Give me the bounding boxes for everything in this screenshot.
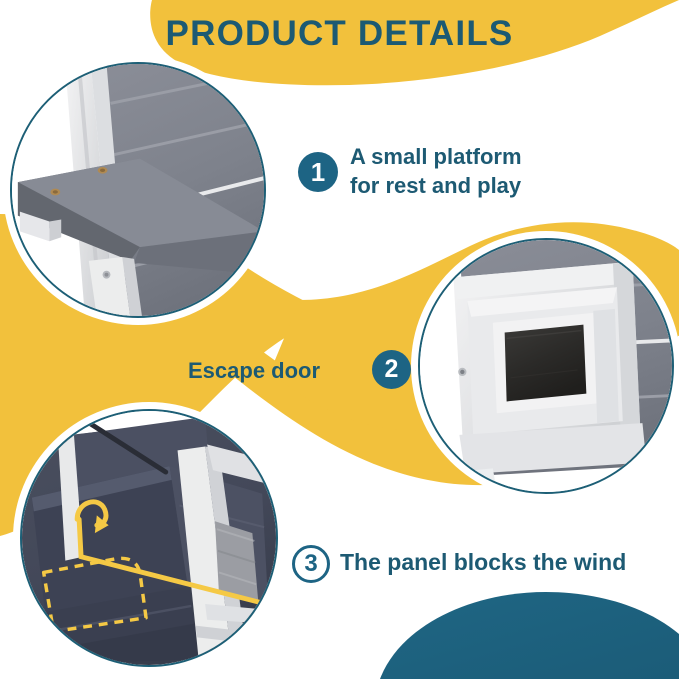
feature-label-1-line2: for rest and play [350,172,650,201]
feature-label-1: A small platform for rest and play [350,143,650,200]
bottom-teal-wave [380,592,679,679]
product-details-infographic: PRODUCT DETAILS 1 A small platform for r… [0,0,679,679]
feature-badge-1: 1 [298,152,338,192]
photo-wind-block-panel [20,409,278,667]
photo-platform-shelf [10,62,266,318]
feature-label-2: Escape door [188,357,320,386]
feature-badge-2: 2 [372,350,411,389]
page-title: PRODUCT DETAILS [0,14,679,54]
feature-label-3: The panel blocks the wind [340,548,670,578]
feature-badge-3: 3 [292,545,330,583]
feature-label-1-line1: A small platform [350,143,650,172]
photo-escape-door [418,238,674,494]
